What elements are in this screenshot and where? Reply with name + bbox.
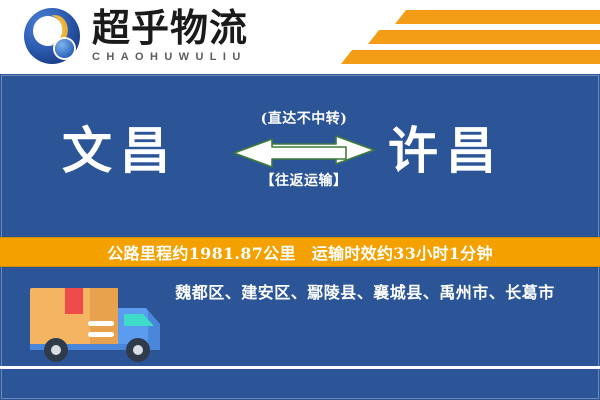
bidirectional-arrow-icon — [232, 134, 376, 168]
truck-cab-shade — [146, 308, 160, 346]
speed-stripe — [395, 10, 600, 24]
origin-city: 文昌 — [62, 122, 178, 180]
speed-stripes-decoration — [310, 8, 600, 68]
route-arrow-group: (直达不中转) 【往返运输】 — [232, 108, 376, 218]
road-line — [0, 366, 600, 369]
truck-tape-icon — [65, 288, 83, 314]
chaohu-circle-logo-icon — [22, 6, 82, 66]
route-info-bar: 公路里程约1981.87公里 运输时效约33小时1分钟 — [0, 237, 600, 267]
delivery-truck-illustration — [28, 282, 178, 372]
round-trip-note: 【往返运输】 — [232, 170, 376, 190]
brand-name-cn: 超乎物流 — [92, 9, 248, 48]
truck-slat — [88, 321, 114, 326]
destination-city: 许昌 — [388, 122, 504, 180]
truck-slat — [88, 332, 114, 337]
banner-header: 超乎物流 CHAOHUWULIU — [0, 0, 600, 72]
brand-name-en: CHAOHUWULIU — [92, 51, 248, 63]
truck-wheel-hub — [133, 345, 143, 355]
duration-text: 运输时效约33小时1分钟 — [312, 240, 493, 264]
truck-cargo-shade — [90, 288, 118, 346]
direct-route-note: (直达不中转) — [232, 108, 376, 128]
service-districts-list: 魏都区、建安区、鄢陵县、襄城县、禹州市、长葛市 — [150, 279, 580, 303]
brand-logo-text: 超乎物流 CHAOHUWULIU — [92, 9, 248, 63]
speed-stripe — [341, 50, 600, 64]
distance-text: 公路里程约1981.87公里 — [107, 240, 296, 264]
logo-small-dot-icon — [55, 39, 74, 58]
truck-wheel-hub — [51, 345, 61, 355]
brand-logo[interactable]: 超乎物流 CHAOHUWULIU — [22, 6, 248, 66]
main-blue-panel: 文昌 (直达不中转) 【往返运输】 许昌 公路里程约1981.87公里 运输时效… — [0, 72, 600, 400]
route-row: 文昌 (直达不中转) 【往返运输】 许昌 — [0, 108, 600, 228]
speed-stripe — [368, 30, 600, 44]
logistics-route-banner: 超乎物流 CHAOHUWULIU 文昌 (直达不中转) — [0, 0, 600, 400]
